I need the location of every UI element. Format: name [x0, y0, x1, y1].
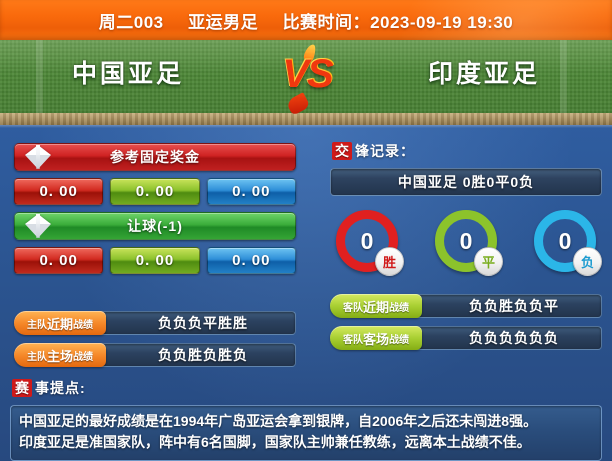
h2h-ring-draw: 0 平 [435, 210, 497, 272]
tips-header: 赛 事提点: [10, 377, 602, 399]
tag-suffix: 战绩 [389, 331, 409, 346]
ring-badge-draw: 平 [474, 247, 503, 276]
pitch-dirt-strip [0, 113, 612, 125]
handicap-odds-row: 0. 00 0. 00 0. 00 [14, 247, 296, 274]
tag-suffix: 战绩 [73, 316, 93, 331]
home-home-record-row: 主队主场战绩 负负胜负胜负 [14, 343, 296, 367]
home-recent-record-tag: 主队近期战绩 [14, 311, 106, 335]
tag-suffix: 战绩 [73, 348, 93, 363]
tips-line-2: 印度亚足是准国家队，阵中有6名国脚，国家队主帅兼任教练，远离本土战绩不佳。 [19, 432, 593, 453]
ring-badge-lose: 负 [573, 247, 602, 276]
h2h-summary: 中国亚足 0胜0平0负 [330, 168, 602, 196]
home-home-record-value: 负负胜负胜负 [74, 343, 296, 367]
match-preview-card: 周二003 亚运男足 比赛时间：2023-09-19 19:30 中国亚足 印度… [0, 0, 612, 461]
handicap-bar[interactable]: 让球(-1) [14, 212, 296, 240]
h2h-ring-lose: 0 负 [534, 210, 596, 272]
tag-suffix: 战绩 [389, 299, 409, 314]
away-recent-record-row: 客队近期战绩 负负胜负负平 [330, 294, 602, 318]
tag-main: 近期 [363, 297, 389, 316]
vs-icon: VS [281, 48, 333, 106]
h2h-section-header: 交 锋记录： [330, 140, 602, 162]
header-title: 周二003 亚运男足 比赛时间：2023-09-19 19:30 [99, 8, 513, 33]
home-recent-record-row: 主队近期战绩 负负负平胜胜 [14, 311, 296, 335]
tips-line-1: 中国亚足的最好成绩是在1994年广岛亚运会拿到银牌，自2006年之后还未闯进8强… [19, 411, 593, 432]
handicap-title: 让球(-1) [127, 216, 183, 236]
tips-label: 事提点: [35, 378, 86, 398]
match-number: 周二003 [99, 13, 164, 32]
away-away-record-row: 客队客场战绩 负负负负负负 [330, 326, 602, 350]
home-team-name: 中国亚足 [18, 54, 238, 90]
tag-prefix: 主队 [27, 348, 47, 363]
tips-section: 赛 事提点: 中国亚足的最好成绩是在1994年广岛亚运会拿到银牌，自2006年之… [10, 377, 602, 461]
h2h-column: 交 锋记录： 中国亚足 0胜0平0负 0 胜 0 平 0 负 [330, 125, 602, 350]
fixed-odd-lose[interactable]: 0. 00 [207, 178, 296, 205]
header-bar: 周二003 亚运男足 比赛时间：2023-09-19 19:30 [0, 0, 612, 40]
h2h-ring-win: 0 胜 [336, 210, 398, 272]
away-away-record-tag: 客队客场战绩 [330, 326, 422, 350]
ring-badge-win: 胜 [375, 247, 404, 276]
tag-main: 近期 [47, 314, 73, 333]
tag-prefix: 主队 [27, 316, 47, 331]
tips-mark-icon: 赛 [12, 379, 32, 397]
match-time-label: 比赛时间： [283, 13, 371, 32]
content-panel: 参考固定奖金 0. 00 0. 00 0. 00 让球(-1) 0. 00 0.… [0, 125, 612, 461]
handicap-odd-lose[interactable]: 0. 00 [207, 247, 296, 274]
tag-main: 主场 [47, 346, 73, 365]
tips-box: 中国亚足的最好成绩是在1994年广岛亚运会拿到银牌，自2006年之后还未闯进8强… [10, 405, 602, 461]
league-name: 亚运男足 [188, 13, 258, 32]
h2h-rings: 0 胜 0 平 0 负 [330, 210, 602, 272]
fixed-bonus-title: 参考固定奖金 [110, 147, 200, 167]
away-recent-record-tag: 客队近期战绩 [330, 294, 422, 318]
tag-main: 客场 [363, 329, 389, 348]
odds-column: 参考固定奖金 0. 00 0. 00 0. 00 让球(-1) 0. 00 0.… [14, 125, 296, 367]
h2h-section-label: 锋记录： [355, 141, 415, 161]
diamond-gem-icon [25, 214, 51, 238]
away-team-name: 印度亚足 [374, 54, 594, 90]
fixed-odds-row: 0. 00 0. 00 0. 00 [14, 178, 296, 205]
tag-prefix: 客队 [343, 299, 363, 314]
handicap-odd-win[interactable]: 0. 00 [14, 247, 103, 274]
fixed-odd-draw[interactable]: 0. 00 [110, 178, 199, 205]
fixed-bonus-bar[interactable]: 参考固定奖金 [14, 143, 296, 171]
diamond-gem-icon [25, 145, 51, 169]
handicap-odd-draw[interactable]: 0. 00 [110, 247, 199, 274]
h2h-mark-icon: 交 [332, 142, 352, 160]
fixed-odd-win[interactable]: 0. 00 [14, 178, 103, 205]
match-time-value: 2023-09-19 19:30 [370, 13, 513, 32]
tag-prefix: 客队 [343, 331, 363, 346]
home-home-record-tag: 主队主场战绩 [14, 343, 106, 367]
home-recent-record-value: 负负负平胜胜 [74, 311, 296, 335]
